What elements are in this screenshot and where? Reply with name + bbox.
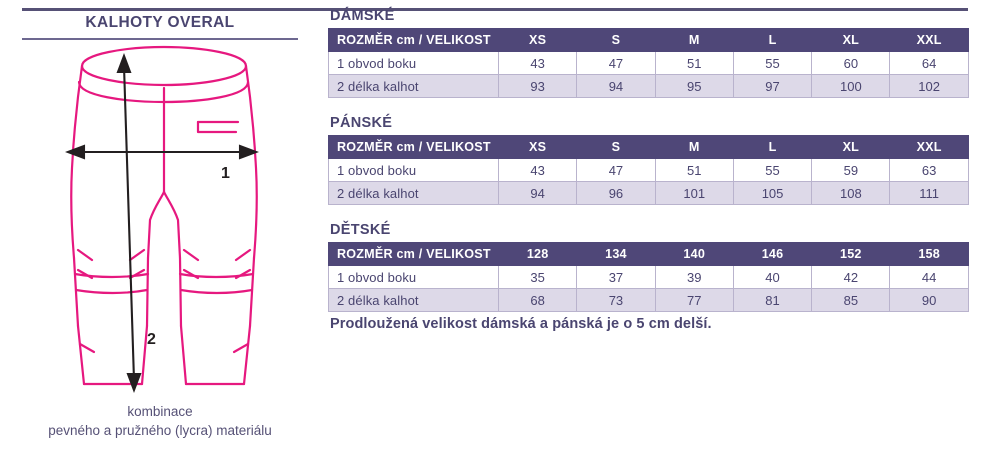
- cell-value: 90: [890, 289, 968, 312]
- row-label: 1 obvod boku: [329, 159, 499, 182]
- cell-value: 97: [733, 75, 811, 98]
- cell-value: 111: [890, 182, 968, 205]
- cell-value: 102: [890, 75, 968, 98]
- size-table-kids: ROZMĚR cm / VELIKOST 128 134 140 146 152…: [328, 242, 969, 312]
- table-row: 1 obvod boku 43 47 51 55 59 63: [329, 159, 969, 182]
- table-row: 2 délka kalhot 93 94 95 97 100 102: [329, 75, 969, 98]
- size-table-mens: ROZMĚR cm / VELIKOST XS S M L XL XXL 1 o…: [328, 135, 969, 205]
- cell-value: 73: [577, 289, 655, 312]
- table-header-row: ROZMĚR cm / VELIKOST XS S M L XL XXL: [329, 136, 969, 159]
- column-header-size: 128: [499, 243, 577, 266]
- cell-value: 47: [577, 159, 655, 182]
- cell-value: 68: [499, 289, 577, 312]
- section-title-kids: DĚTSKÉ: [330, 222, 968, 238]
- section-womens: DÁMSKÉ ROZMĚR cm / VELIKOST XS S M L XL …: [328, 8, 968, 98]
- cell-value: 37: [577, 266, 655, 289]
- cell-value: 105: [733, 182, 811, 205]
- cell-value: 101: [655, 182, 733, 205]
- column-header-size: L: [733, 136, 811, 159]
- column-header-label: ROZMĚR cm / VELIKOST: [329, 29, 499, 52]
- row-label: 1 obvod boku: [329, 266, 499, 289]
- cell-value: 95: [655, 75, 733, 98]
- cell-value: 35: [499, 266, 577, 289]
- cell-value: 43: [499, 52, 577, 75]
- row-label: 2 délka kalhot: [329, 289, 499, 312]
- size-table-womens: ROZMĚR cm / VELIKOST XS S M L XL XXL 1 o…: [328, 28, 969, 98]
- cell-value: 85: [812, 289, 890, 312]
- table-row: 2 délka kalhot 94 96 101 105 108 111: [329, 182, 969, 205]
- column-header-size: 140: [655, 243, 733, 266]
- row-label: 2 délka kalhot: [329, 182, 499, 205]
- column-header-size: XL: [812, 29, 890, 52]
- column-header-size: L: [733, 29, 811, 52]
- section-title-womens: DÁMSKÉ: [330, 8, 968, 24]
- cell-value: 44: [890, 266, 968, 289]
- column-header-size: 158: [890, 243, 968, 266]
- size-tables-panel: DÁMSKÉ ROZMĚR cm / VELIKOST XS S M L XL …: [328, 0, 988, 454]
- footnote-note: Prodloužená velikost dámská a pánská je …: [330, 316, 712, 332]
- cell-value: 55: [733, 159, 811, 182]
- cell-value: 60: [812, 52, 890, 75]
- cell-value: 94: [499, 182, 577, 205]
- material-caption: kombinace pevného a pružného (lycra) mat…: [10, 402, 310, 440]
- pants-diagram: 1 2: [48, 44, 278, 396]
- cell-value: 43: [499, 159, 577, 182]
- column-header-label: ROZMĚR cm / VELIKOST: [329, 243, 499, 266]
- column-header-size: XS: [499, 136, 577, 159]
- cell-value: 108: [812, 182, 890, 205]
- table-header-row: ROZMĚR cm / VELIKOST 128 134 140 146 152…: [329, 243, 969, 266]
- column-header-size: S: [577, 29, 655, 52]
- table-row: 1 obvod boku 35 37 39 40 42 44: [329, 266, 969, 289]
- column-header-size: S: [577, 136, 655, 159]
- cell-value: 93: [499, 75, 577, 98]
- cell-value: 94: [577, 75, 655, 98]
- caption-line-2: pevného a pružného (lycra) materiálu: [10, 421, 310, 440]
- cell-value: 47: [577, 52, 655, 75]
- section-title-mens: PÁNSKÉ: [330, 115, 968, 131]
- column-header-size: XS: [499, 29, 577, 52]
- cell-value: 77: [655, 289, 733, 312]
- column-header-size: M: [655, 29, 733, 52]
- column-header-size: 152: [812, 243, 890, 266]
- page-title: KALHOTY OVERAL: [22, 14, 298, 32]
- column-header-size: 134: [577, 243, 655, 266]
- cell-value: 55: [733, 52, 811, 75]
- size-chart-page: KALHOTY OVERAL: [0, 0, 1000, 454]
- cell-value: 81: [733, 289, 811, 312]
- cell-value: 59: [812, 159, 890, 182]
- caption-line-1: kombinace: [10, 402, 310, 421]
- table-row: 1 obvod boku 43 47 51 55 60 64: [329, 52, 969, 75]
- cell-value: 63: [890, 159, 968, 182]
- column-header-label: ROZMĚR cm / VELIKOST: [329, 136, 499, 159]
- section-mens: PÁNSKÉ ROZMĚR cm / VELIKOST XS S M L XL …: [328, 115, 968, 205]
- row-label: 1 obvod boku: [329, 52, 499, 75]
- product-illustration-panel: KALHOTY OVERAL: [0, 0, 320, 454]
- cell-value: 51: [655, 159, 733, 182]
- measure-1-label: 1: [221, 165, 230, 182]
- cell-value: 39: [655, 266, 733, 289]
- cell-value: 42: [812, 266, 890, 289]
- cell-value: 96: [577, 182, 655, 205]
- cell-value: 51: [655, 52, 733, 75]
- cell-value: 40: [733, 266, 811, 289]
- column-header-size: M: [655, 136, 733, 159]
- cell-value: 64: [890, 52, 968, 75]
- measure-2-label: 2: [147, 331, 156, 348]
- section-kids: DĚTSKÉ ROZMĚR cm / VELIKOST 128 134 140 …: [328, 222, 968, 312]
- table-row: 2 délka kalhot 68 73 77 81 85 90: [329, 289, 969, 312]
- title-underline-rule: [22, 38, 298, 40]
- column-header-size: XXL: [890, 29, 968, 52]
- column-header-size: XXL: [890, 136, 968, 159]
- column-header-size: 146: [733, 243, 811, 266]
- column-header-size: XL: [812, 136, 890, 159]
- row-label: 2 délka kalhot: [329, 75, 499, 98]
- cell-value: 100: [812, 75, 890, 98]
- table-header-row: ROZMĚR cm / VELIKOST XS S M L XL XXL: [329, 29, 969, 52]
